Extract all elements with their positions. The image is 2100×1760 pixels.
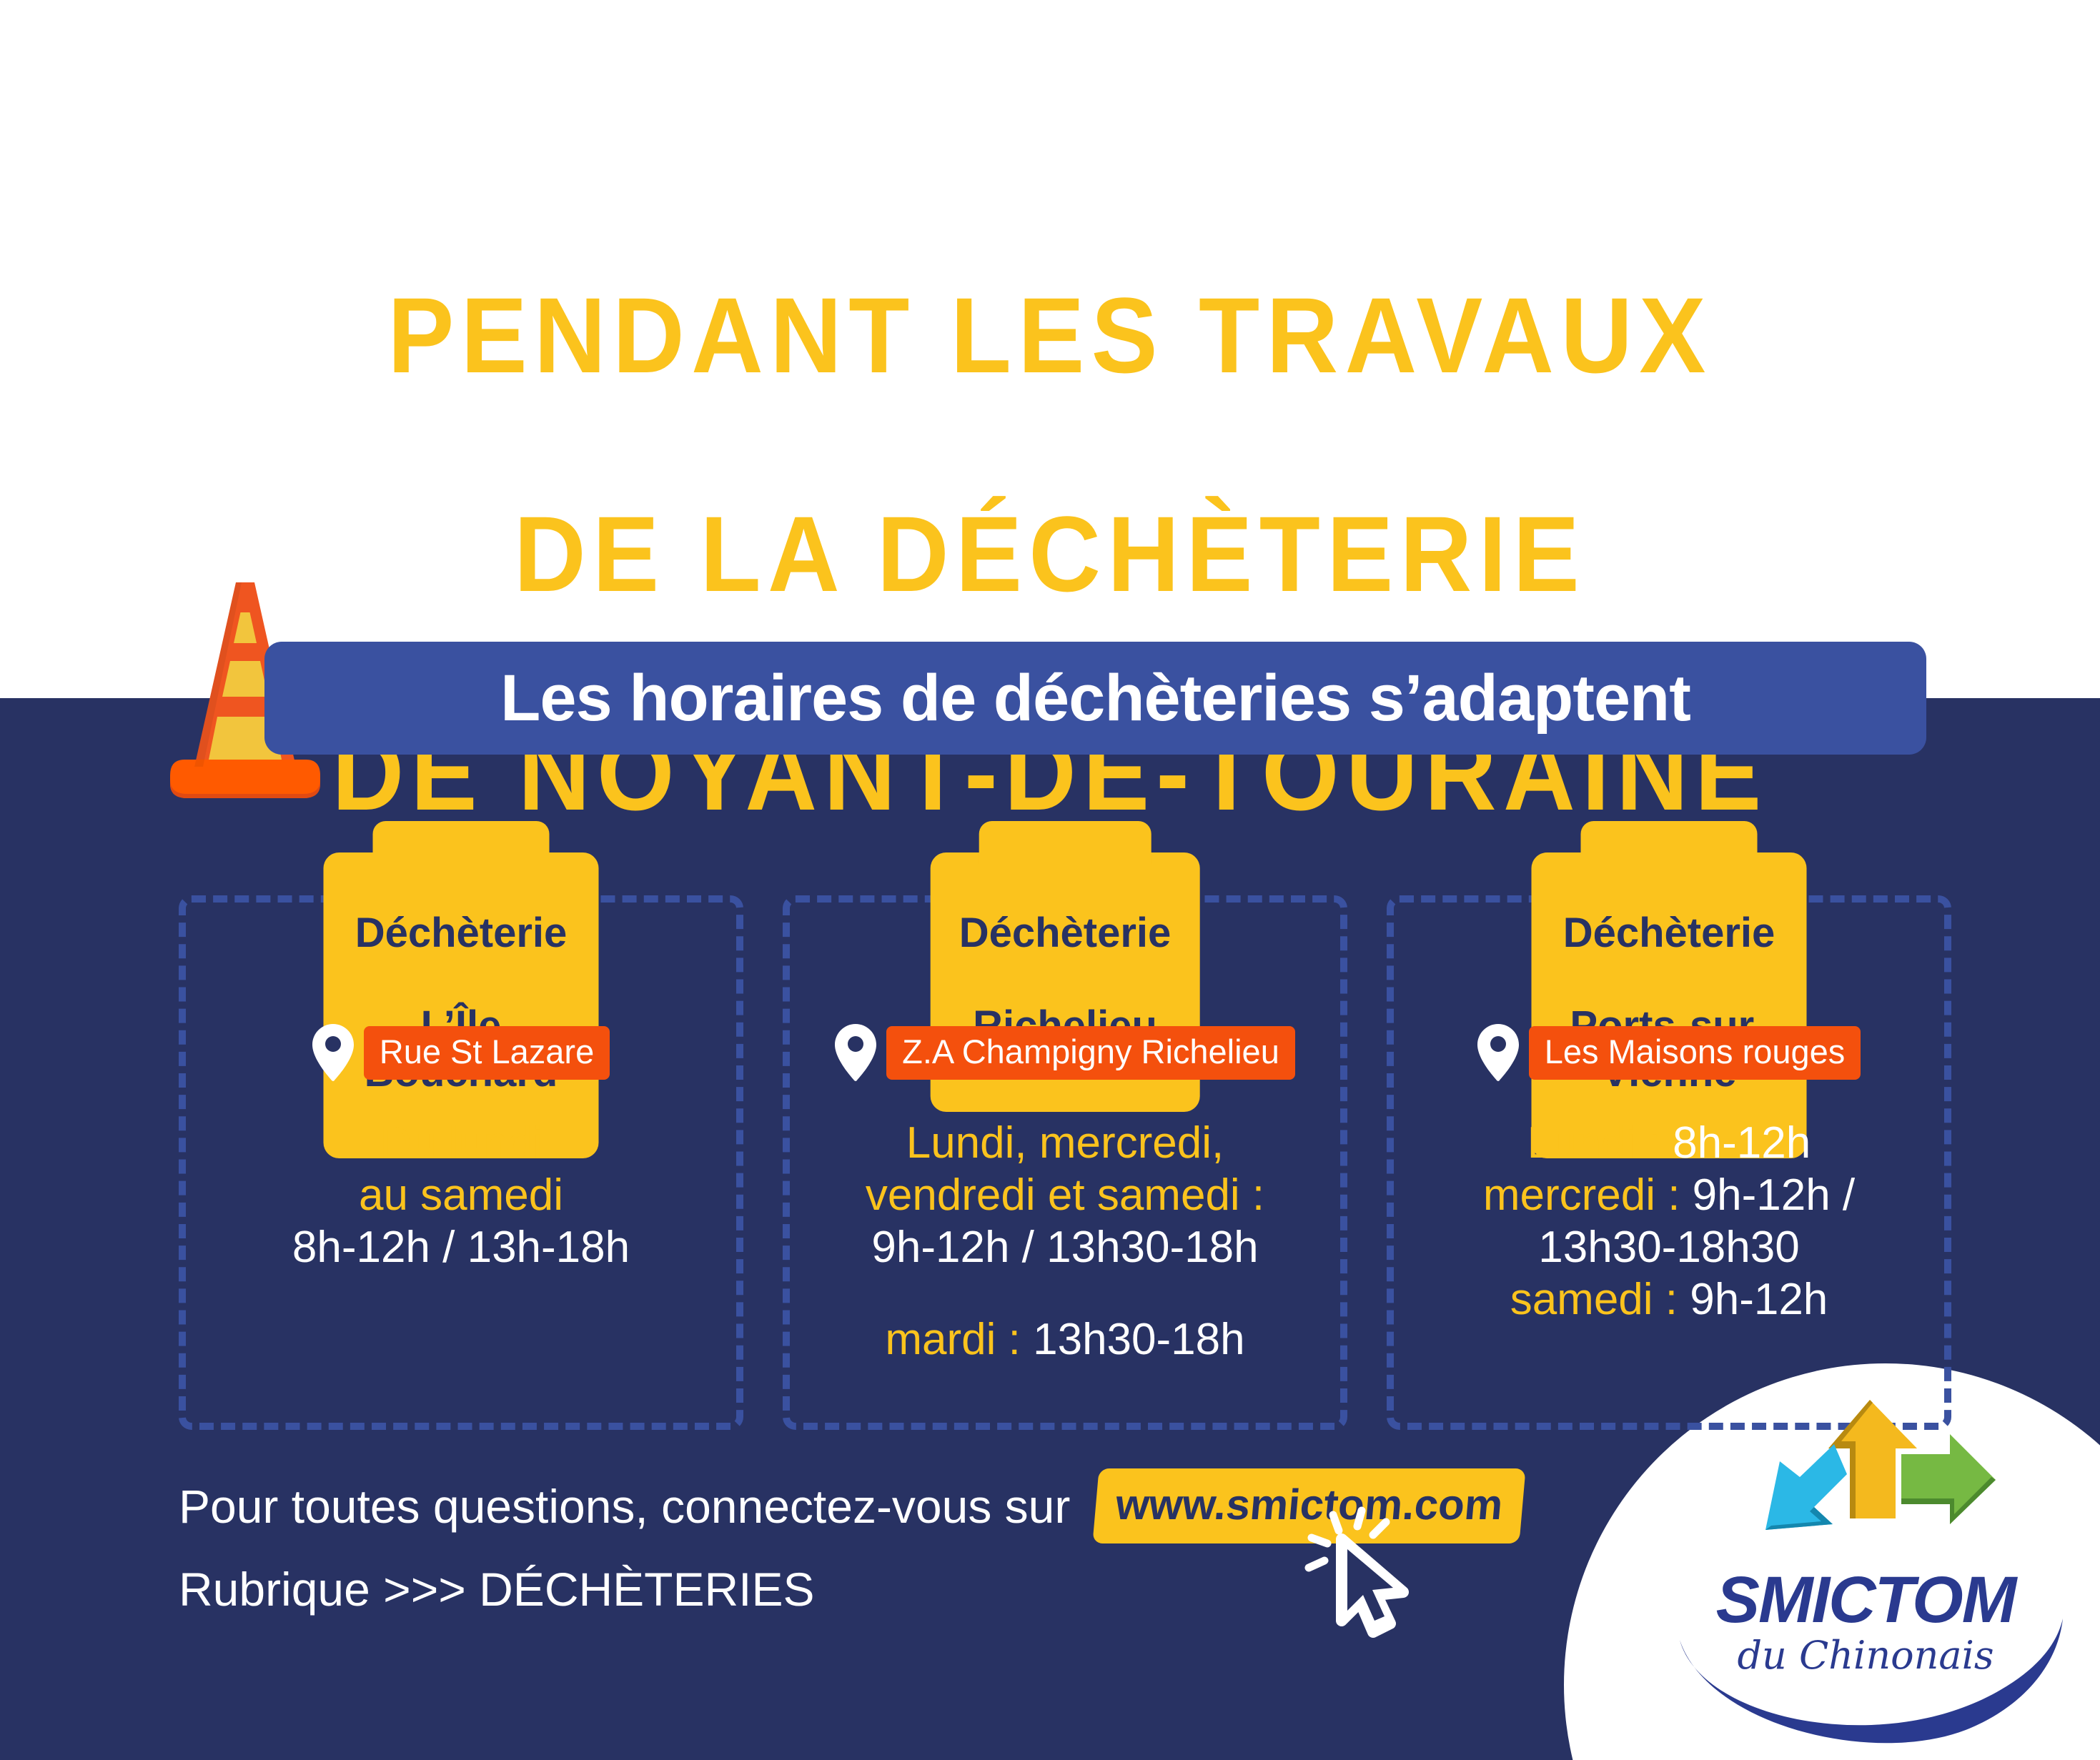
mouse-cursor-icon xyxy=(1304,1506,1419,1642)
card-hours-time: 13h30-18h xyxy=(1033,1315,1245,1364)
card-hours: Lundi, mercredi, vendredi et samedi : 9h… xyxy=(797,1117,1333,1366)
dechetterie-card: Déchèterie Ports-sur-Vienne Les Maisons … xyxy=(1387,895,1951,1430)
footer-line-1: Pour toutes questions, connectez-vous su… xyxy=(179,1479,1070,1533)
card-address-row: Rue St Lazare xyxy=(186,1024,736,1081)
dechetterie-card: Déchèterie Richelieu Z.A Champigny Riche… xyxy=(783,895,1347,1430)
card-hours-time: 9h-12h / 13h30-18h xyxy=(871,1223,1258,1272)
card-hours-time: 8h-12h / 13h-18h xyxy=(292,1223,630,1272)
card-hours-time: 9h-12h / xyxy=(1693,1170,1856,1220)
card-address-chip: Les Maisons rouges xyxy=(1529,1026,1861,1080)
card-badge-line-1: Déchèterie xyxy=(352,910,570,957)
map-pin-icon xyxy=(835,1024,876,1081)
logo-swoosh-icon xyxy=(1658,1611,2100,1754)
map-pin-icon xyxy=(1477,1024,1519,1081)
dechetteries-cards: Déchèterie L’Île Bouchard Rue St Lazare … xyxy=(0,895,2100,1431)
smictom-logo: SMICTOM du Chinonais xyxy=(1665,1397,2100,1733)
title-line-2: DE LA DÉCHÈTERIE xyxy=(74,499,2026,609)
smictom-arrows-icon xyxy=(1665,1397,2066,1568)
poster-root: PENDANT LES TRAVAUX DE LA DÉCHÈTERIE DE … xyxy=(0,0,2100,1760)
card-address-row: Les Maisons rouges xyxy=(1394,1024,1944,1081)
card-hours: Du lundi au samedi 8h-12h / 13h-18h xyxy=(193,1117,729,1273)
card-hours-day: mardi : xyxy=(885,1315,1033,1364)
card-address-row: Z.A Champigny Richelieu xyxy=(790,1024,1340,1081)
card-hours: Lundi : 8h-12h mercredi : 9h-12h / 13h30… xyxy=(1401,1117,1937,1326)
card-badge-line-1: Déchèterie xyxy=(1560,910,1778,957)
card-hours-day: Du lundi xyxy=(380,1118,542,1168)
subtitle-banner: Les horaires de déchèteries s’adaptent xyxy=(264,642,1926,755)
footer-line-2: Rubrique >>> DÉCHÈTERIES xyxy=(179,1562,815,1616)
title-line-1: PENDANT LES TRAVAUX xyxy=(74,281,2026,390)
card-hours-day: Lundi, mercredi, xyxy=(906,1118,1224,1168)
card-address-chip: Rue St Lazare xyxy=(364,1026,610,1080)
card-address-chip: Z.A Champigny Richelieu xyxy=(886,1026,1295,1080)
card-hours-day: au samedi xyxy=(359,1170,563,1220)
subtitle-banner-text: Les horaires de déchèteries s’adaptent xyxy=(500,661,1690,736)
card-title-badge: Déchèterie L’Île Bouchard xyxy=(324,852,599,1158)
card-hours-day: mercredi : xyxy=(1483,1170,1693,1220)
card-hours-spacer xyxy=(797,1273,1333,1313)
card-hours-time: 8h-12h xyxy=(1673,1118,1811,1168)
card-hours-day: Lundi : xyxy=(1527,1118,1673,1168)
map-pin-icon xyxy=(312,1024,354,1081)
card-hours-day: samedi : xyxy=(1510,1275,1690,1324)
dechetterie-card: Déchèterie L’Île Bouchard Rue St Lazare … xyxy=(179,895,743,1430)
card-hours-day: vendredi et samedi : xyxy=(866,1170,1264,1220)
card-hours-time: 13h30-18h30 xyxy=(1538,1223,1799,1272)
card-hours-time: 9h-12h xyxy=(1690,1275,1828,1324)
card-badge-line-1: Déchèterie xyxy=(959,910,1172,957)
card-title-badge: Déchèterie Ports-sur-Vienne xyxy=(1532,852,1807,1158)
